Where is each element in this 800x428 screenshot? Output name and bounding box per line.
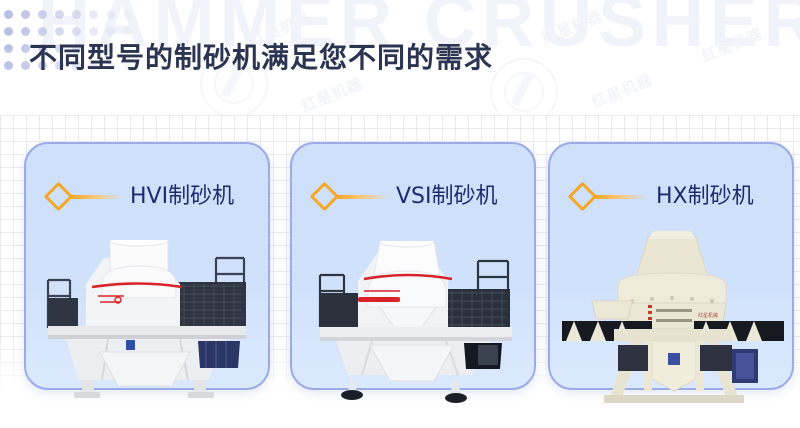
grid-dot [123,10,132,19]
grid-dot [55,27,64,36]
grid-dot [123,27,132,36]
vsi-sand-making-machine [296,241,534,403]
hvi-sand-making-machine [30,240,270,400]
grid-dot [4,27,13,36]
grid-dot [89,10,98,19]
accent-line-decoration [337,195,389,199]
watermark-mark-text: 红星机器 [588,69,655,112]
svg-text:红星机械: 红星机械 [698,312,718,319]
watermark-mark-text: 红星机器 [298,73,365,115]
card-header: VSI制砂机 [292,180,534,214]
grid-dot [38,27,47,36]
card-header: HVI制砂机 [26,180,268,214]
card-title-label: HVI制砂机 [130,178,234,210]
grid-dot [4,44,13,53]
accent-line-decoration [71,195,123,199]
grid-dot [21,27,30,36]
diamond-icon [568,182,598,212]
accent-line-decoration [595,195,647,199]
card-row: HVI制砂机 VSI制砂机 HX制砂机 [0,115,800,428]
grid-dot [89,27,98,36]
grid-dot [106,27,115,36]
page-title: 不同型号的制砂机满足您不同的需求 [29,36,493,76]
grid-dot [21,10,30,19]
watermark-logo-icon [490,58,558,115]
hx-sand-making-machine: 红星机械 [556,229,790,405]
grid-dot [38,10,47,19]
card-header: HX制砂机 [550,180,792,214]
grid-dot [72,10,81,19]
grid-dot [4,10,13,19]
grid-dot [106,10,115,19]
grid-dot [72,27,81,36]
banner-header: HAMMER CRUSHER 红星机器 红星机器 红星机器 红星机器 红星机器 … [0,0,800,115]
card-title-label: VSI制砂机 [396,178,498,210]
promo-banner: HAMMER CRUSHER 红星机器 红星机器 红星机器 红星机器 红星机器 … [0,0,800,428]
diamond-icon [44,182,74,212]
grid-dot [4,61,13,70]
card-title-label: HX制砂机 [656,178,754,210]
diamond-icon [310,182,340,212]
grid-dot [55,10,64,19]
